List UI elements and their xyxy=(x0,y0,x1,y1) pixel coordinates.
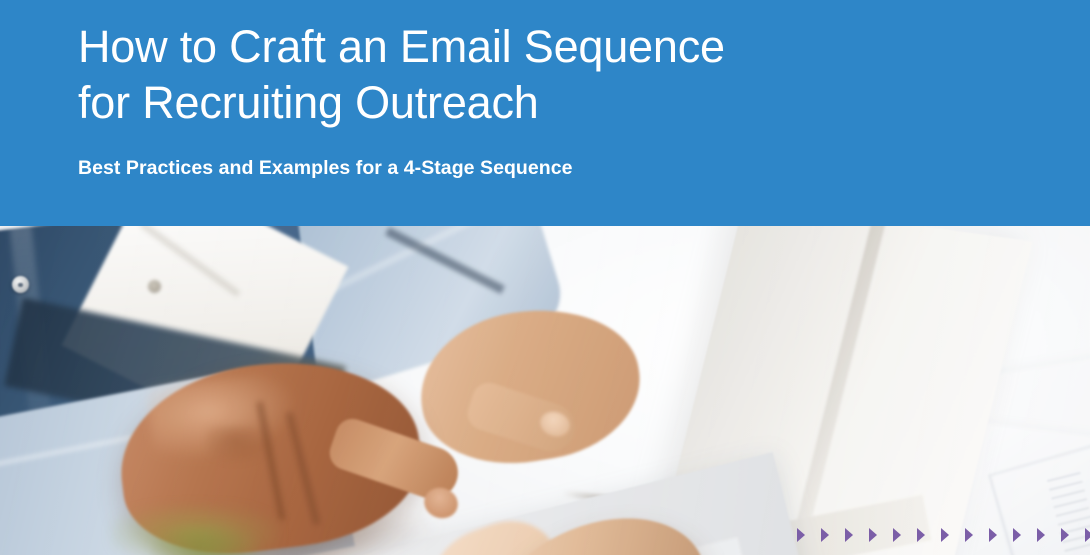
hero-photo xyxy=(0,226,1090,555)
shirt-button-hole xyxy=(18,283,23,287)
triangle-accent-icon xyxy=(1013,528,1021,542)
triangle-accent-icon xyxy=(893,528,901,542)
page-subtitle: Best Practices and Examples for a 4-Stag… xyxy=(78,131,978,181)
triangle-accent-icon xyxy=(1037,528,1045,542)
plant-foliage-core xyxy=(150,526,260,555)
header-banner: How to Craft an Email Sequence for Recru… xyxy=(0,0,1090,226)
title-block: How to Craft an Email Sequence for Recru… xyxy=(78,19,978,181)
triangle-accent-icon xyxy=(821,528,829,542)
cover-page: How to Craft an Email Sequence for Recru… xyxy=(0,0,1090,555)
collar-stud xyxy=(148,280,161,293)
triangle-accent-icon xyxy=(1061,528,1069,542)
photo-canvas xyxy=(0,226,1090,555)
triangle-accent-icon xyxy=(845,528,853,542)
triangle-accent-icon xyxy=(941,528,949,542)
page-title: How to Craft an Email Sequence for Recru… xyxy=(78,19,978,131)
triangle-accent-strip xyxy=(797,527,1090,542)
triangle-accent-icon xyxy=(989,528,997,542)
triangle-accent-icon xyxy=(965,528,973,542)
triangle-accent-icon xyxy=(869,528,877,542)
triangle-accent-icon xyxy=(1085,528,1090,542)
triangle-accent-icon xyxy=(917,528,925,542)
triangle-accent-icon xyxy=(797,528,805,542)
